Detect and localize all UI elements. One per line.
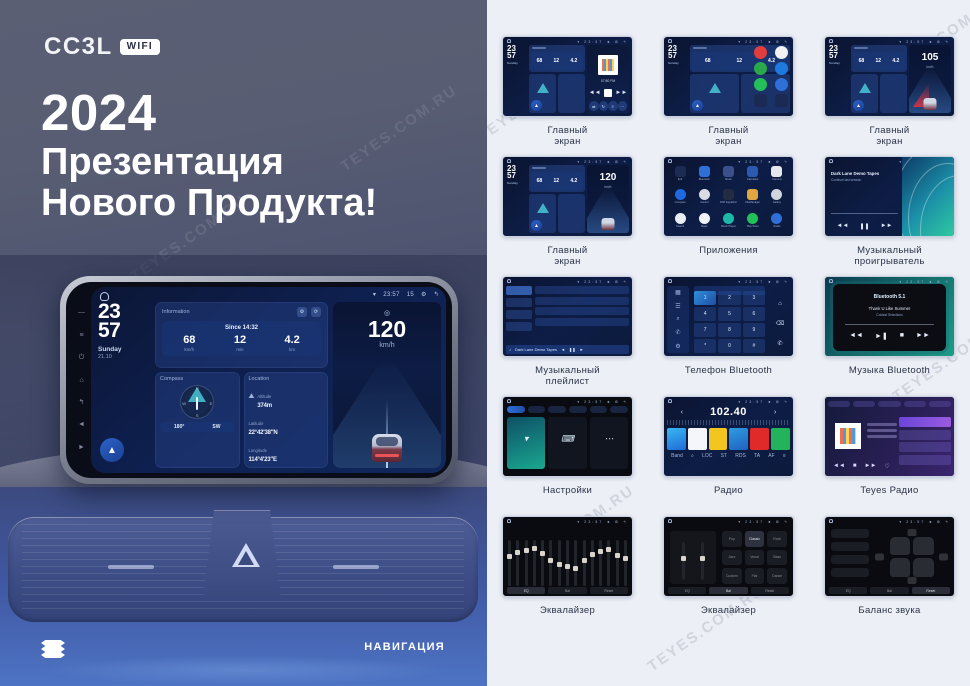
gallery-item[interactable]: ▾ 23:57 ◄ ⚙ ↰ ▦ ☰ ⌕ ✆ ⚙ 1 2 3 4 5 [648, 276, 809, 396]
playstore-icon[interactable] [747, 213, 758, 224]
stop-icon[interactable] [604, 89, 612, 97]
tab-wlan[interactable] [507, 406, 525, 413]
next-track-icon[interactable]: ► [77, 443, 86, 452]
list-item[interactable] [899, 430, 951, 440]
eq-band[interactable] [516, 540, 519, 586]
status-bar: ▾ 23:57 15 ⚙ ↰ [373, 291, 439, 298]
tab-system[interactable] [610, 406, 628, 413]
gear-icon[interactable]: ⚙ [297, 307, 307, 317]
more-icon[interactable]: ⋯ [618, 101, 628, 111]
gallery-item[interactable]: ▾ 23:57 ◄ ⚙ ↰ ▾ ⌨ [487, 396, 648, 516]
tab-eq[interactable]: EQ [829, 587, 867, 594]
vent-slider-left [108, 565, 154, 569]
tab-sound[interactable] [528, 406, 546, 413]
compass-card[interactable]: Compass N E S W [155, 372, 240, 468]
eq-sliders[interactable] [670, 531, 716, 584]
next-icon[interactable]: ►► [615, 90, 627, 96]
list-item[interactable] [535, 318, 629, 326]
tab-balance[interactable]: Bal [709, 587, 747, 594]
wifi-icon: ▾ [373, 291, 376, 298]
seat-front-left[interactable] [890, 537, 911, 556]
eq-band[interactable] [525, 540, 528, 586]
compass-icon[interactable] [675, 189, 686, 200]
music-app-icon[interactable] [723, 213, 734, 224]
screen-thumbnail[interactable]: ▾ 23:57 ◄ ⚙ ↰ [502, 516, 633, 597]
progress-bar[interactable] [845, 324, 934, 325]
preset-front[interactable] [831, 542, 869, 551]
screen-thumbnail[interactable]: ▾ 23:57 ◄ ⚙ ↰ ♪ D [502, 276, 633, 357]
tab-all[interactable] [828, 401, 850, 407]
altitude-label: Altitude [257, 394, 271, 399]
eq-band[interactable] [616, 540, 619, 586]
settings-icon[interactable] [699, 189, 710, 200]
screen-thumbnail[interactable]: ▾ 23:57 ◄ ⚙ ↰ ▾ ⌨ [502, 396, 633, 477]
gallery-item[interactable]: ▾ 23:57 ◄ ⚙ ↰ Bluetooth 5.1 Thank U Like… [809, 276, 970, 396]
prev-icon[interactable]: ◄ [561, 347, 565, 352]
list-item[interactable] [535, 286, 629, 294]
navigation-fab-icon[interactable]: ▲ [853, 100, 864, 111]
folder-icon[interactable] [747, 189, 758, 200]
search-icon[interactable] [675, 213, 686, 224]
hero-footer: НАВИГАЦИЯ [0, 616, 487, 686]
eq-band[interactable] [533, 540, 536, 586]
preset-all[interactable] [831, 568, 869, 577]
hardware-key-column[interactable]: — ≡ ⏻ ⌂ ↰ ◄ ► [72, 287, 91, 473]
app-label: Calculator [747, 178, 759, 181]
preset-rock[interactable]: Rock [767, 531, 787, 547]
preset-rear[interactable] [831, 555, 869, 564]
screen-thumbnail[interactable]: ▾ 23:57 ◄ ⚙ ↰ [824, 516, 955, 597]
prev-icon[interactable]: ◄◄ [833, 463, 845, 470]
repeat-icon[interactable]: ↻ [599, 101, 609, 111]
tab-balance[interactable]: Bal [870, 587, 908, 594]
equalizer-tabs[interactable]: EQ Bal Reset [507, 587, 628, 594]
sidebar-item-albums[interactable] [506, 298, 532, 307]
pause-icon[interactable]: ❚❚ [569, 347, 576, 352]
dial-key-4[interactable]: 4 [694, 307, 716, 321]
progress-bar[interactable] [831, 213, 898, 214]
equalizer-bands[interactable] [508, 526, 627, 586]
browser-icon[interactable] [775, 46, 788, 59]
carplay-icon: ⌨ [561, 433, 574, 444]
eq-band[interactable] [591, 540, 594, 586]
camera-icon[interactable] [771, 166, 782, 177]
home-icon [507, 279, 511, 283]
ta-icon[interactable]: TA [754, 453, 760, 459]
tab-eq[interactable]: EQ [507, 587, 545, 594]
tab-eq[interactable]: EQ [668, 587, 706, 594]
phone-sidebar[interactable]: ▦ ☰ ⌕ ✆ ⚙ [667, 286, 689, 353]
clock-weekday: Sunday [98, 346, 150, 353]
dial-key-5[interactable]: 5 [718, 307, 740, 321]
home-icon [668, 159, 672, 163]
youtube-icon[interactable] [754, 46, 767, 59]
stereo-icon[interactable]: ST [721, 453, 727, 459]
dial-key-0[interactable]: 0 [718, 339, 740, 353]
rds-icon[interactable]: RDS [735, 453, 746, 459]
speed-value: 105 [922, 52, 939, 63]
gallery-item[interactable]: ▾ 23:57 ◄ ⚙ ↰ Exit Bluetooth Music Calcu… [648, 156, 809, 276]
tab-reset[interactable]: Reset [751, 587, 789, 594]
clock-widget: 23 57 Sunday 21.10 ▲ [98, 302, 150, 468]
list-icon[interactable]: ≡ [608, 101, 618, 111]
sidebar-item-artists[interactable] [506, 310, 532, 319]
stat-value: 68 [183, 335, 195, 346]
status-bar: ▾ 23:57 ◄ ⚙ ↰ [899, 40, 950, 44]
status-bar: ▾ 23:57 ◄ ⚙ ↰ [577, 40, 628, 44]
gallery-item[interactable]: ▾ 23:57 ◄ ⚙ ↰ 2357Sunday 68124.2 ▲ 105 k… [809, 36, 970, 156]
gallery-item[interactable]: ▾ 23:57 ◄ ⚙ ↰ ‹ 102.40 › [648, 396, 809, 516]
visualizer-graphic [902, 157, 954, 236]
dialpad[interactable]: 1 2 3 4 5 6 7 8 9 * 0 # [694, 291, 765, 353]
status-bar: ▾ 23:57 ◄ ⚙ ↰ [738, 520, 789, 524]
next-icon[interactable]: ►► [865, 463, 877, 470]
next-icon[interactable]: ► [580, 347, 584, 352]
headline-year: 2024 [41, 88, 377, 138]
balance-left-icon[interactable] [875, 553, 884, 560]
balance-down-icon[interactable] [907, 577, 916, 584]
eq-presets[interactable]: Pop Classic Rock Jazz Vocal Bass Custom … [722, 531, 787, 584]
volume-level: 15 [407, 292, 414, 298]
call-actions[interactable]: ⌂ ⌫ ✆ [770, 295, 790, 353]
dialpad-icon[interactable]: ▦ [675, 289, 681, 296]
play-pause-icon[interactable]: ►❚ [875, 332, 888, 340]
tab-genres[interactable] [878, 401, 900, 407]
contacts-icon[interactable]: ☰ [675, 303, 680, 310]
driving-widget[interactable]: 120 km/h [587, 165, 629, 233]
equalizer-tabs[interactable]: EQ Bal Reset [829, 587, 950, 594]
driving-widget[interactable]: ◎ 120 km/h [333, 302, 441, 468]
hazard-triangle-icon [232, 543, 260, 567]
navigation-fab-icon[interactable]: ▲ [692, 100, 703, 111]
list-item[interactable] [899, 455, 951, 465]
pause-icon[interactable]: ❚❚ [859, 223, 869, 230]
status-bar: ▾ 23:57 ◄ ⚙ ↰ [577, 520, 628, 524]
carplay-panel[interactable]: ⌨ [548, 417, 586, 469]
gallery-item[interactable]: ▾ 23:57 ◄ ⚙ ↰ 2357Sunday 68124.2 ▲ 07:50… [487, 36, 648, 156]
car-graphic [372, 434, 402, 462]
thumbnail-caption: Главныйэкран [548, 245, 588, 267]
call-history-icon[interactable]: ✆ [675, 329, 680, 336]
dial-key-8[interactable]: 8 [718, 323, 740, 337]
latitude-label: Latitude [249, 421, 264, 426]
app-drawer[interactable]: Exit Bluetooth Music Calculator Camera C… [668, 166, 789, 233]
location-card[interactable]: Location ⛰ Altitude 374m [244, 372, 329, 468]
stop-icon[interactable]: ■ [900, 332, 904, 340]
equalizer-tabs[interactable]: EQ Bal Reset [668, 587, 789, 594]
settings-screen[interactable]: ▾ ⌨ ⋯ [507, 406, 628, 473]
status-bar: ▾ 23:57 ◄ ⚙ ↰ [738, 280, 789, 284]
settings-icon[interactable]: ⚙ [675, 343, 680, 350]
af-icon[interactable]: AF [768, 453, 774, 459]
stop-icon[interactable]: ■ [853, 463, 857, 470]
shuffle-icon[interactable]: ⇄ [589, 101, 599, 111]
compass-needle-icon [196, 397, 198, 410]
balance-screen[interactable] [831, 529, 948, 584]
dial-key-hash[interactable]: # [743, 339, 765, 353]
tab-favorites[interactable] [853, 401, 875, 407]
list-item[interactable] [535, 307, 629, 315]
app-label: Camera [772, 178, 781, 181]
prev-icon[interactable]: ◄◄ [849, 332, 863, 340]
volume-up-icon[interactable]: ≡ [77, 331, 86, 340]
preset-2[interactable] [688, 428, 707, 450]
app-label: DSP Equalizer [720, 201, 737, 204]
home-icon[interactable]: ⌂ [77, 376, 86, 385]
eq-band[interactable] [566, 540, 569, 586]
balance-presets[interactable] [831, 529, 869, 584]
eq-band[interactable] [583, 540, 586, 586]
seat-rear-right[interactable] [913, 558, 934, 577]
app-label: Control [700, 201, 708, 204]
back-arrow-icon[interactable]: ↰ [434, 291, 439, 298]
home-icon[interactable]: ⌂ [778, 301, 782, 307]
preset-vocal[interactable]: Vocal [745, 550, 765, 566]
search-icon[interactable]: ⌕ [691, 453, 694, 459]
navigation-fab-icon[interactable]: ▲ [531, 220, 542, 231]
tab-apps[interactable] [590, 406, 608, 413]
equalizer-icon[interactable] [723, 189, 734, 200]
next-station-icon[interactable]: › [774, 409, 776, 416]
information-card[interactable]: Information ⚙ ⟳ Since 14:32 [155, 302, 328, 368]
search-icon[interactable]: ⌕ [676, 316, 679, 323]
layers-icon [41, 640, 65, 658]
next-icon[interactable]: ►► [916, 332, 930, 340]
preset-pop[interactable]: Pop [722, 531, 742, 547]
screen-thumbnail[interactable]: ▾ 23:57 ◄ ⚙ ↰ Dark Lane Demo Tapes Conti… [824, 156, 955, 237]
bluetooth-icon[interactable] [699, 166, 710, 177]
screen-thumbnail[interactable]: ▾ 23:57 ◄ ⚙ ↰ Pop Classic Rock Jazz Voca… [663, 516, 794, 597]
app-label: FileManager [745, 201, 759, 204]
gallery-item[interactable]: ▾ 23:57 ◄ ⚙ ↰ 2357Sunday 68124.2 ▲ [648, 36, 809, 156]
thumbnail-grid: ▾ 23:57 ◄ ⚙ ↰ 2357Sunday 68124.2 ▲ 07:50… [487, 36, 970, 636]
settings-icon[interactable] [775, 94, 788, 107]
list-icon[interactable]: ≡ [783, 453, 786, 459]
preset-6[interactable] [771, 428, 790, 450]
media-widget[interactable]: 07:50 FM ◄◄►► ⇄↻≡⋯ [587, 45, 629, 113]
preset-4[interactable] [729, 428, 748, 450]
head-unit-frame: — ≡ ⏻ ⌂ ↰ ◄ ► ▾ 23:57 15 ⚙ ↰ [66, 282, 452, 478]
mail-icon[interactable] [775, 78, 788, 91]
home-icon [668, 399, 672, 403]
volume-down-icon[interactable]: — [77, 308, 86, 317]
thumbnail-caption: Главныйэкран [709, 125, 749, 147]
thumbnail-caption: Радио [714, 485, 743, 496]
tab-reset[interactable]: Reset [912, 587, 950, 594]
calculator-icon[interactable] [747, 166, 758, 177]
dial-key-star[interactable]: * [694, 339, 716, 353]
back-arrow-icon[interactable]: ↰ [77, 398, 86, 407]
band-icon[interactable]: Band [671, 453, 683, 459]
status-bar: ▾ 23:57 ◄ ⚙ ↰ [577, 280, 628, 284]
dial-key-9[interactable]: 9 [743, 323, 765, 337]
radio-icon[interactable] [771, 213, 782, 224]
list-item[interactable] [899, 417, 951, 427]
driving-widget[interactable]: 105 km/h [909, 45, 951, 113]
app-label: Gallery [773, 201, 781, 204]
compass-s: S [196, 413, 199, 418]
gallery-item[interactable]: ▾ 23:57 ◄ ⚙ ↰ [487, 516, 648, 636]
preset-bass[interactable]: Bass [767, 550, 787, 566]
trip-stat: 68 km/h [183, 335, 195, 352]
gallery-item[interactable]: ▾ 23:57 ◄ ⚙ ↰ [809, 516, 970, 636]
screen-thumbnail[interactable]: ▾ 23:57 ◄ ⚙ ↰ 2357Sunday 68124.2 ▲ 120 k… [502, 156, 633, 237]
now-playing-bar[interactable]: ♪ Dark Lane Demo Tapes ◄ ❚❚ ► [506, 345, 629, 354]
gallery-item[interactable]: ◄◄■►►♡ Teyes Радио [809, 396, 970, 516]
balance-pad[interactable] [875, 529, 948, 584]
preset-row[interactable] [667, 428, 790, 450]
apps-grid-icon[interactable] [754, 94, 767, 107]
eq-band[interactable] [599, 540, 602, 586]
screen-thumbnail[interactable]: ▾ 23:57 ◄ ⚙ ↰ 2357Sunday 68124.2 ▲ [663, 36, 794, 117]
preset-classic[interactable]: Classic [745, 531, 765, 547]
preset-5[interactable] [750, 428, 769, 450]
screen-thumbnail[interactable]: ▾ 23:57 ◄ ⚙ ↰ Exit Bluetooth Music Calcu… [663, 156, 794, 237]
sidebar-item-folders[interactable] [506, 322, 532, 331]
thumbnail-caption: Приложения [699, 245, 758, 256]
seat-front-right[interactable] [913, 537, 934, 556]
more-panel[interactable]: ⋯ [590, 417, 628, 469]
loc-icon[interactable]: LOC [702, 453, 712, 459]
eq-band[interactable] [541, 540, 544, 586]
track-title: Dark Lane Demo Tapes [831, 171, 898, 176]
status-bar: ▾ 23:57 ◄ ⚙ ↰ [577, 400, 628, 404]
screen-thumbnail[interactable]: ▾ 23:57 ◄ ⚙ ↰ ▦ ☰ ⌕ ✆ ⚙ 1 2 3 4 5 [663, 276, 794, 357]
seat-rear-left[interactable] [890, 558, 911, 577]
refresh-icon[interactable]: ⟳ [311, 307, 321, 317]
eq-band[interactable] [574, 540, 577, 586]
eq-band[interactable] [624, 540, 627, 586]
backspace-icon[interactable]: ⌫ [776, 320, 784, 327]
preset-dance[interactable]: Dance [767, 568, 787, 584]
head-unit-screen[interactable]: ▾ 23:57 15 ⚙ ↰ 23 57 Sunday 21.10 ▲ [91, 287, 446, 473]
gallery-icon[interactable] [771, 189, 782, 200]
dial-key-2[interactable]: 2 [718, 291, 740, 305]
app-shortcuts[interactable] [752, 46, 790, 113]
list-item[interactable] [535, 297, 629, 305]
teyes-radio-screen[interactable]: ◄◄■►►♡ [825, 397, 954, 476]
eq-band[interactable] [558, 540, 561, 586]
eq-band[interactable] [607, 540, 610, 586]
wlan-panel[interactable]: ▾ [507, 417, 545, 469]
tab-search[interactable] [929, 401, 951, 407]
back-arrow-icon[interactable] [675, 166, 686, 177]
prev-icon[interactable]: ◄◄ [589, 90, 601, 96]
eq-band[interactable] [508, 540, 511, 586]
maps-icon[interactable] [699, 213, 710, 224]
gallery-item[interactable]: ▾ 23:57 ◄ ⚙ ↰ 2357Sunday 68124.2 ▲ 120 k… [487, 156, 648, 276]
home-icon[interactable] [100, 292, 109, 301]
screen-thumbnail[interactable]: ▾ 23:57 ◄ ⚙ ↰ 2357Sunday 68124.2 ▲ 105 k… [824, 36, 955, 117]
preset-driver[interactable] [831, 529, 869, 538]
home-icon [507, 399, 511, 403]
navigation-icon[interactable] [775, 62, 788, 75]
compass-e: E [210, 401, 213, 406]
gallery-item[interactable]: ▾ 23:57 ◄ ⚙ ↰ Pop Classic Rock Jazz Voca… [648, 516, 809, 636]
balance-up-icon[interactable] [907, 529, 916, 536]
gear-icon[interactable]: ⚙ [421, 291, 427, 298]
tab-display[interactable] [548, 406, 566, 413]
prev-station-icon[interactable]: ‹ [681, 409, 683, 416]
tab-general[interactable] [569, 406, 587, 413]
call-icon[interactable]: ✆ [777, 340, 782, 347]
home-icon [668, 39, 672, 43]
settings-tabs[interactable] [507, 406, 628, 413]
list-item[interactable] [899, 442, 951, 452]
thumbnail-caption: Главныйэкран [548, 125, 588, 147]
preset-1[interactable] [667, 428, 686, 450]
prev-track-icon[interactable]: ◄ [77, 420, 86, 429]
preset-3[interactable] [709, 428, 728, 450]
preset-jazz[interactable]: Jazz [722, 550, 742, 566]
hero-panel: TEYES.COM.RU TEYES.COM.RU TEYES.COM.RU T… [0, 0, 487, 686]
playstore-icon[interactable] [754, 78, 767, 91]
dial-key-3[interactable]: 3 [743, 291, 765, 305]
gallery-item[interactable]: ▾ 23:57 ◄ ⚙ ↰ ♪ D [487, 276, 648, 396]
home-icon [829, 39, 833, 43]
category-tabs[interactable] [828, 401, 951, 407]
eq-band[interactable] [549, 540, 552, 586]
eq-band[interactable] [682, 542, 685, 580]
screen-thumbnail[interactable]: ▾ 23:57 ◄ ⚙ ↰ Bluetooth 5.1 Thank U Like… [824, 276, 955, 357]
eq-band[interactable] [701, 542, 704, 580]
screen-thumbnail[interactable]: ▾ 23:57 ◄ ⚙ ↰ 2357Sunday 68124.2 ▲ 07:50… [502, 36, 633, 117]
tab-regions[interactable] [904, 401, 926, 407]
dial-key-1[interactable]: 1 [694, 291, 716, 305]
balance-right-icon[interactable] [939, 553, 948, 560]
tab-reset[interactable]: Reset [590, 587, 628, 594]
playlist-sidebar[interactable] [506, 286, 532, 353]
status-bar: ▾ 23:57 ◄ ⚙ ↰ [738, 400, 789, 404]
thumbnail-caption: Телефон Bluetooth [685, 365, 772, 376]
compass-heading: 180° [174, 424, 184, 430]
next-icon[interactable]: ►► [881, 223, 893, 230]
navigation-fab-icon[interactable]: ▲ [531, 100, 542, 111]
dial-key-7[interactable]: 7 [694, 323, 716, 337]
navigation-fab-icon[interactable]: ▲ [100, 438, 124, 462]
wifi-badge: WIFI [120, 39, 160, 55]
thumbnail-caption: Настройки [543, 485, 592, 496]
preset-custom[interactable]: Custom [722, 568, 742, 584]
power-icon[interactable]: ⏻ [77, 353, 86, 362]
mountain-icon: ⛰ [249, 393, 255, 401]
presentation-slide: TEYES.COM.RU TEYES.COM.RU TEYES.COM.RU T… [0, 0, 970, 686]
home-icon [829, 279, 833, 283]
prev-icon[interactable]: ◄◄ [837, 223, 849, 230]
radio-frequency: 102.40 [710, 406, 747, 418]
tab-balance[interactable]: Bal [548, 587, 586, 594]
track-list[interactable] [535, 286, 629, 344]
frequency-scale[interactable] [667, 420, 790, 425]
seat-layout[interactable] [890, 537, 934, 577]
track-artist: Continue last session [831, 178, 898, 182]
clock-minutes: 57 [507, 51, 516, 60]
screen-thumbnail[interactable]: ◄◄■►►♡ [824, 396, 955, 477]
screen-thumbnail[interactable]: ▾ 23:57 ◄ ⚙ ↰ ‹ 102.40 › [663, 396, 794, 477]
music-icon[interactable] [723, 166, 734, 177]
maps-icon[interactable] [754, 62, 767, 75]
more-icon: ⋯ [604, 433, 613, 444]
station-list[interactable] [899, 417, 951, 473]
dial-key-6[interactable]: 6 [743, 307, 765, 321]
favorite-icon[interactable]: ♡ [884, 463, 889, 470]
bt-music-card: Bluetooth 5.1 Thank U Like Summer Coldes… [833, 284, 946, 351]
gallery-item[interactable]: ▾ 23:57 ◄ ⚙ ↰ Dark Lane Demo Tapes Conti… [809, 156, 970, 276]
radio-screen[interactable]: ‹ 102.40 › [667, 406, 790, 473]
sidebar-item-tracks[interactable] [506, 286, 532, 295]
compass-n: N [196, 386, 199, 391]
preset-flat[interactable]: Flat [745, 568, 765, 584]
